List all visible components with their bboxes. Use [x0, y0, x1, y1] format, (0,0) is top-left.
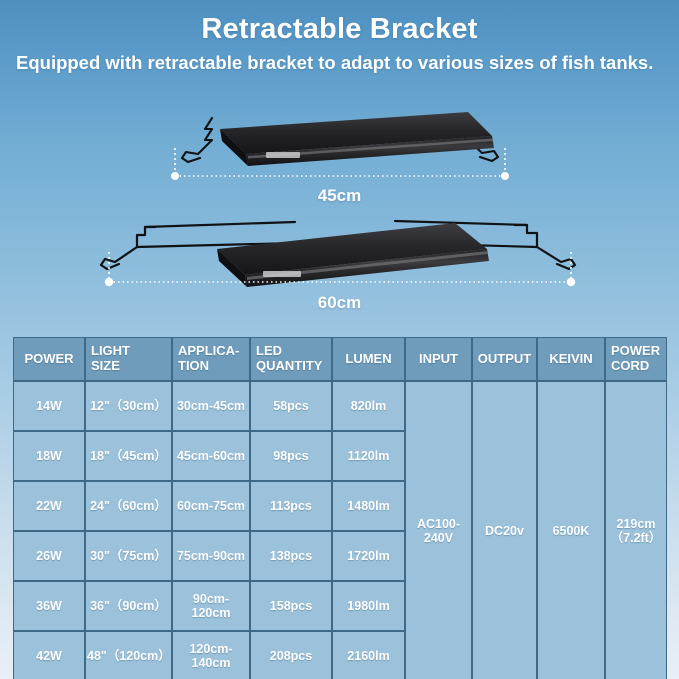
header-label-led-quantity-line2: QUANTITY: [256, 358, 322, 373]
table-header-row: POWER LIGHT SIZE APPLICA- TION LED QUANT…: [13, 337, 667, 381]
cell-light-size: 12"（30cm）: [85, 381, 172, 431]
column-header-power: POWER: [13, 337, 85, 381]
cell-led-quantity: 138pcs: [250, 531, 332, 581]
cell-power-cord: 219cm（7.2ft）: [605, 381, 667, 679]
spec-table-container: POWER LIGHT SIZE APPLICA- TION LED QUANT…: [13, 337, 667, 679]
header-label-power: POWER: [24, 351, 73, 366]
column-header-light-size: LIGHT SIZE: [85, 337, 172, 381]
header-label-light-size-line1: LIGHT: [91, 343, 130, 358]
cell-light-size: 36"（90cm）: [85, 581, 172, 631]
cell-application: 90cm-120cm: [172, 581, 250, 631]
column-header-output: OUTPUT: [472, 337, 537, 381]
cell-lumen: 820lm: [332, 381, 405, 431]
cell-power: 14W: [13, 381, 85, 431]
dimension-label-60: 60cm: [0, 293, 679, 313]
cell-keivin: 6500K: [537, 381, 605, 679]
page-subtitle: Equipped with retractable bracket to ada…: [16, 51, 664, 76]
cell-led-quantity: 208pcs: [250, 631, 332, 679]
specification-table: POWER LIGHT SIZE APPLICA- TION LED QUANT…: [13, 337, 667, 679]
dimension-endpoint-right: [501, 172, 509, 180]
cell-lumen: 1980lm: [332, 581, 405, 631]
column-header-input: INPUT: [405, 337, 472, 381]
dimension-endpoint-left: [171, 172, 179, 180]
cell-led-quantity: 113pcs: [250, 481, 332, 531]
page-title: Retractable Bracket: [0, 13, 679, 46]
header-label-output: OUTPUT: [478, 351, 531, 366]
cell-power: 18W: [13, 431, 85, 481]
dimension-endpoint-right: [567, 278, 575, 286]
dimension-line-45: [150, 148, 530, 190]
cell-power: 36W: [13, 581, 85, 631]
cell-application: 30cm-45cm: [172, 381, 250, 431]
header-label-input: INPUT: [419, 351, 458, 366]
column-header-power-cord: POWER CORD: [605, 337, 667, 381]
infographic-page: Retractable Bracket Equipped with retrac…: [0, 0, 679, 679]
header-label-lumen: LUMEN: [345, 351, 391, 366]
cell-lumen: 1480lm: [332, 481, 405, 531]
cell-application: 45cm-60cm: [172, 431, 250, 481]
dimension-endpoint-left: [105, 278, 113, 286]
cell-output: DC20v: [472, 381, 537, 679]
cell-input: AC100-240V: [405, 381, 472, 679]
heading-block: Retractable Bracket Equipped with retrac…: [0, 0, 679, 76]
cell-light-size: 30"（75cm）: [85, 531, 172, 581]
header-label-application-line1: APPLICA-: [178, 343, 239, 358]
cell-light-size: 24"（60cm）: [85, 481, 172, 531]
cell-lumen: 2160lm: [332, 631, 405, 679]
cell-led-quantity: 158pcs: [250, 581, 332, 631]
dimension-label-45: 45cm: [0, 186, 679, 206]
cell-application: 120cm-140cm: [172, 631, 250, 679]
cell-led-quantity: 58pcs: [250, 381, 332, 431]
cell-lumen: 1720lm: [332, 531, 405, 581]
cell-power: 26W: [13, 531, 85, 581]
cell-power: 22W: [13, 481, 85, 531]
dimension-line-60: [95, 252, 585, 296]
cell-light-size: 18"（45cm）: [85, 431, 172, 481]
cell-lumen: 1120lm: [332, 431, 405, 481]
header-label-light-size-line2: SIZE: [91, 358, 120, 373]
cell-light-size: 48"（120cm）: [85, 631, 172, 679]
header-label-power-cord-line1: POWER: [611, 343, 660, 358]
column-header-led-quantity: LED QUANTITY: [250, 337, 332, 381]
cell-application: 60cm-75cm: [172, 481, 250, 531]
header-label-power-cord-line2: CORD: [611, 358, 649, 373]
cell-power: 42W: [13, 631, 85, 679]
table-row: 14W 12"（30cm） 30cm-45cm 58pcs 820lm AC10…: [13, 381, 667, 431]
column-header-lumen: LUMEN: [332, 337, 405, 381]
header-label-led-quantity-line1: LED: [256, 343, 282, 358]
cell-led-quantity: 98pcs: [250, 431, 332, 481]
column-header-application: APPLICA- TION: [172, 337, 250, 381]
header-label-keivin: KEIVIN: [549, 351, 592, 366]
header-label-application-line2: TION: [178, 358, 209, 373]
cell-application: 75cm-90cm: [172, 531, 250, 581]
column-header-keivin: KEIVIN: [537, 337, 605, 381]
